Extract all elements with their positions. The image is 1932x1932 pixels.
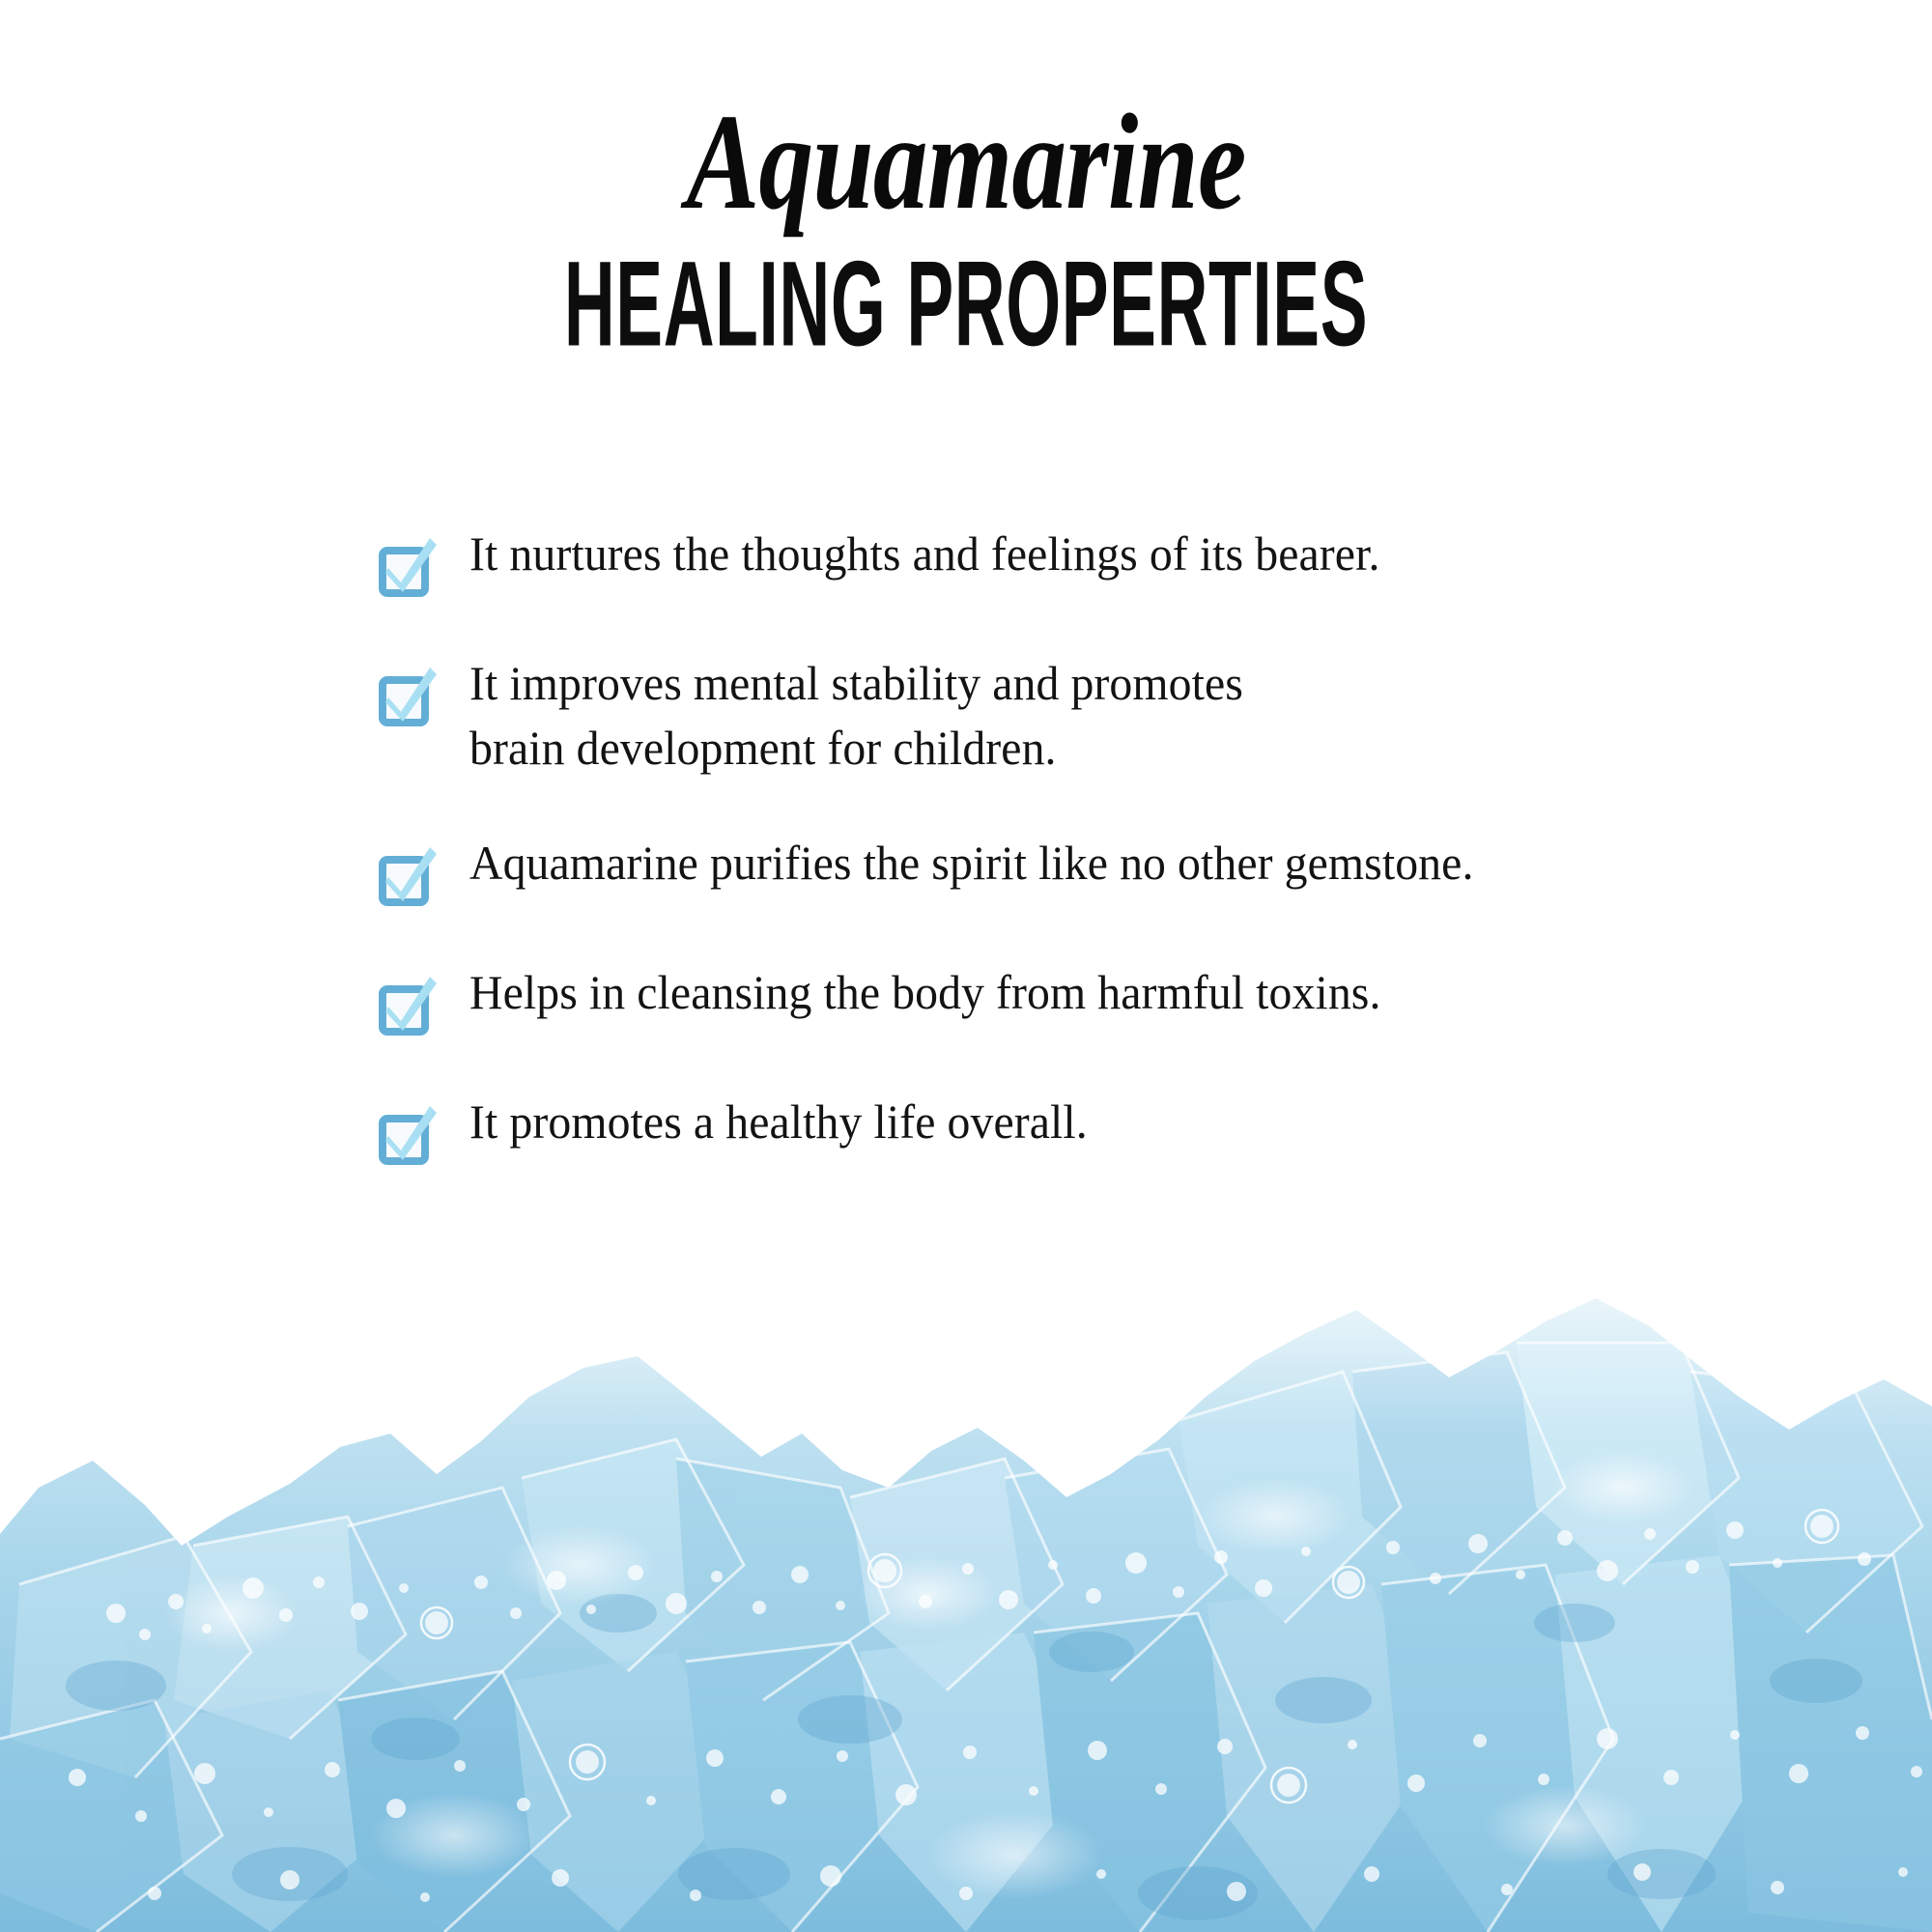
list-item-label: It improves mental stability and promote… [469,651,1243,781]
list-item: Aquamarine purifies the spirit like no o… [379,831,1634,910]
poster-canvas: Aquamarine HEALING PROPERTIES It nurture… [0,0,1932,1932]
list-item-label: Helps in cleansing the body from harmful… [469,960,1381,1025]
healing-properties-list: It nurtures the thoughts and feelings of… [379,522,1634,1169]
list-item-label: Aquamarine purifies the spirit like no o… [469,831,1473,895]
checkbox-checked-icon [379,852,435,910]
checkbox-checked-icon [379,1111,435,1169]
crushed-ice-cubes-photo [0,1198,1932,1932]
page-subtitle: HEALING PROPERTIES [367,243,1565,364]
checkbox-checked-icon [379,672,435,730]
list-item: It improves mental stability and promote… [379,651,1634,781]
page-title: Aquamarine [193,93,1739,230]
checkbox-checked-icon [379,543,435,601]
poster-header: Aquamarine HEALING PROPERTIES [0,0,1932,361]
list-item: It promotes a healthy life overall. [379,1090,1634,1169]
list-item-label: It promotes a healthy life overall. [469,1090,1088,1154]
list-item: Helps in cleansing the body from harmful… [379,960,1634,1039]
list-item: It nurtures the thoughts and feelings of… [379,522,1634,601]
list-item-label: It nurtures the thoughts and feelings of… [469,522,1379,586]
checkbox-checked-icon [379,981,435,1039]
